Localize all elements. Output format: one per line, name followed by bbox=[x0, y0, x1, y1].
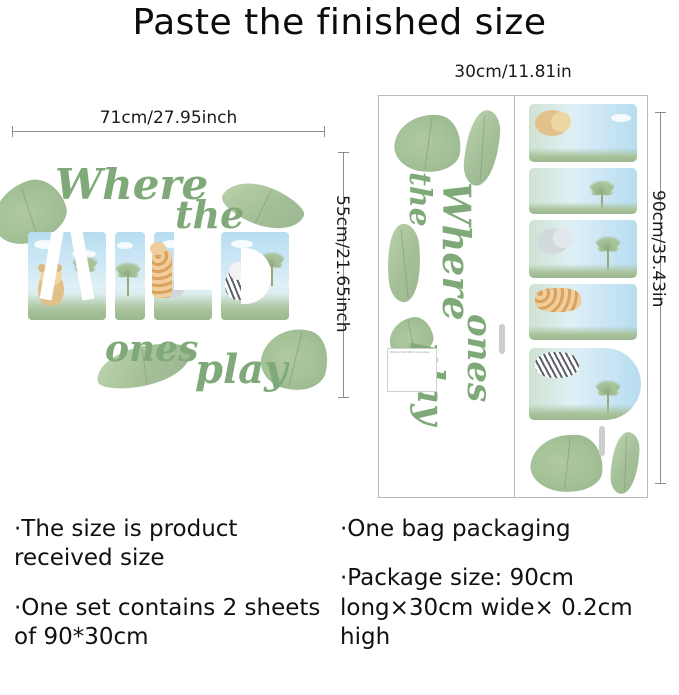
script-word-ones: ones bbox=[105, 328, 198, 370]
banana-leaf-icon bbox=[462, 109, 501, 187]
lion-illustration bbox=[535, 110, 569, 136]
sheet-marker bbox=[599, 426, 605, 456]
giraffe-illustration bbox=[535, 288, 581, 312]
product-notes: ·The size is product received size ·One … bbox=[0, 515, 679, 695]
note-item: ·Package size: 90cm long×30cm wide× 0.2c… bbox=[340, 564, 670, 652]
notes-right-column: ·One bag packaging ·Package size: 90cm l… bbox=[340, 515, 670, 673]
banana-leaf-icon bbox=[610, 432, 640, 495]
sheet-script-where: Where bbox=[434, 182, 479, 321]
sheet-marker bbox=[499, 324, 505, 354]
sheet-letter-giraffe bbox=[529, 284, 637, 340]
packaged-sheets-preview: the Where ones play Where the WILD ones … bbox=[378, 95, 648, 498]
sheet-height-label: 90cm/35.43in bbox=[648, 190, 668, 307]
note-item: ·One set contains 2 sheets of 90*30cm bbox=[14, 594, 334, 653]
sheet-1: the Where ones play Where the WILD ones … bbox=[379, 96, 515, 497]
note-item: ·One bag packaging bbox=[340, 515, 670, 544]
monstera-leaf-icon bbox=[528, 430, 606, 495]
script-word-the: the bbox=[175, 192, 244, 237]
sheet-script-the: the bbox=[402, 172, 437, 227]
sheet-letter-W bbox=[529, 104, 637, 162]
sheet-2 bbox=[515, 96, 647, 497]
note-item: ·The size is product received size bbox=[14, 515, 334, 574]
instruction-card: Where the WILD ones play bbox=[387, 348, 437, 392]
notes-left-column: ·The size is product received size ·One … bbox=[14, 515, 334, 673]
monstera-leaf-icon bbox=[391, 110, 464, 177]
elephant-illustration bbox=[537, 228, 569, 254]
banana-leaf-icon bbox=[383, 222, 425, 303]
sheet-letter-D bbox=[529, 348, 641, 420]
zebra-illustration bbox=[535, 352, 579, 378]
left-width-label: 71cm/27.95inch bbox=[12, 108, 325, 128]
letter-W bbox=[28, 232, 106, 320]
product-size-infographic: Paste the finished size 71cm/27.95inch 5… bbox=[0, 0, 679, 694]
letter-D bbox=[221, 232, 289, 320]
script-word-play: play bbox=[195, 346, 287, 393]
sheet-letter-I bbox=[529, 168, 637, 214]
left-width-dimension-line bbox=[12, 131, 325, 132]
page-title: Paste the finished size bbox=[0, 2, 679, 43]
giraffe-illustration bbox=[152, 250, 172, 298]
finished-decal-preview: Where the ones play bbox=[0, 150, 330, 410]
left-height-label: 55cm/21.65inch bbox=[332, 195, 352, 333]
sheet-script-ones: ones bbox=[459, 314, 499, 402]
sheet-width-label: 30cm/11.81in bbox=[378, 62, 648, 82]
sheet-letter-L bbox=[529, 220, 637, 278]
letter-I bbox=[115, 232, 145, 320]
